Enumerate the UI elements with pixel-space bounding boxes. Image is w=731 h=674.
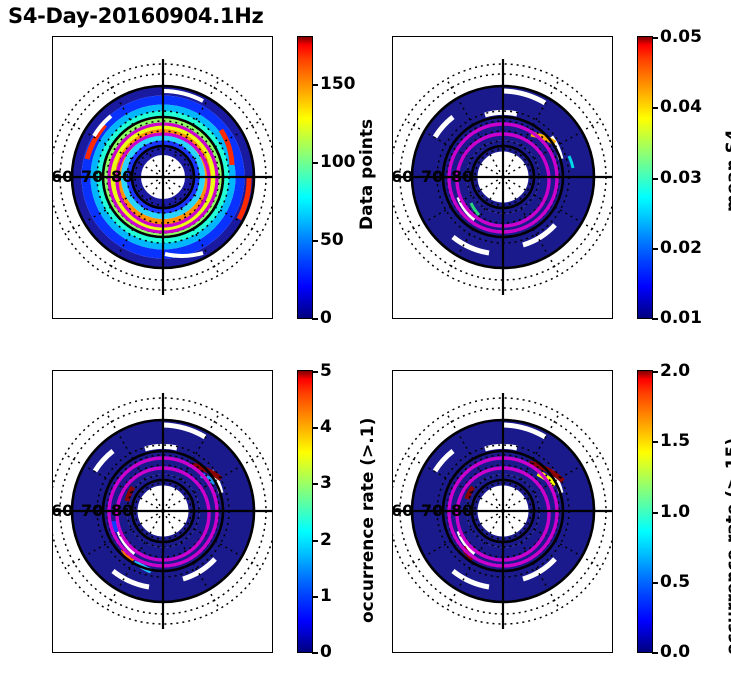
colorbar-tick [312, 540, 318, 542]
colorbar-tick-label: 0.02 [660, 238, 702, 258]
lat-label-80: 80 [111, 501, 133, 520]
colorbar-tick-label: 2.0 [660, 361, 690, 381]
colorbar-tick-label: 1.5 [660, 431, 690, 451]
colorbar-tick-label: 3 [320, 473, 332, 493]
colorbar-tick [652, 441, 658, 443]
figure-canvas: S4-Day-20160904.1Hz [0, 0, 731, 674]
figure-title: S4-Day-20160904.1Hz [8, 4, 263, 28]
colorbar-tick-label: 100 [320, 152, 356, 172]
colorbar-tick [312, 652, 318, 654]
polar-panel-occurrence-rate-015[interactable]: 60 70 80 [392, 370, 613, 653]
colorbar-tick [312, 162, 318, 164]
colorbar-tick-label: 1.0 [660, 502, 690, 522]
colorbar-tick-label: 0.5 [660, 572, 690, 592]
colorbar-tick [652, 37, 658, 39]
colorbar-tick-label: 0.03 [660, 168, 702, 188]
polar-plot-area: 60 70 80 [53, 371, 272, 652]
colorbar-tick-label: 0.0 [660, 642, 690, 662]
colorbar-tick-label: 0.01 [660, 308, 702, 328]
colorbar-tick [312, 318, 318, 320]
colorbar-tick-label: 4 [320, 417, 332, 437]
polar-panel-occurrence-rate-01[interactable]: 60 70 80 [52, 370, 273, 653]
colorbar-mean-s4[interactable]: 0.01 0.02 0.03 0.04 0.05 [637, 36, 653, 319]
colorbar-tick-label: 50 [320, 230, 344, 250]
colorbar-tick [652, 107, 658, 109]
polar-plot-area: 60 70 80 [393, 37, 612, 318]
colorbar-tick [652, 582, 658, 584]
colorbar-title-occurrence-rate-01: occurrence rate (>.1) [358, 418, 378, 623]
polar-panel-data-points[interactable]: 60 70 80 [52, 36, 273, 319]
polar-panel-mean-s4[interactable]: 60 70 80 [392, 36, 613, 319]
colorbar-tick [652, 318, 658, 320]
colorbar-tick [312, 240, 318, 242]
colorbar-tick-label: 0.05 [660, 27, 702, 47]
colorbar-tick [312, 84, 318, 86]
colorbar-title-data-points: Data points [357, 119, 377, 230]
colorbar-tick [312, 483, 318, 485]
colorbar-tick-label: 0.04 [660, 97, 702, 117]
lat-label-80: 80 [451, 501, 473, 520]
colorbar-tick-label: 1 [320, 586, 332, 606]
colorbar-tick-label: 150 [320, 74, 356, 94]
lat-label-80: 80 [111, 167, 133, 186]
colorbar-occurrence-rate-015[interactable]: 0.0 0.5 1.0 1.5 2.0 [637, 370, 653, 653]
polar-plot-area: 60 70 80 [53, 37, 272, 318]
lat-label-60: 60 [393, 167, 413, 186]
lat-label-70: 70 [81, 167, 103, 186]
lat-label-60: 60 [53, 501, 73, 520]
lat-label-60: 60 [53, 167, 73, 186]
colorbar-tick [652, 652, 658, 654]
lat-label-60: 60 [393, 501, 413, 520]
colorbar-title-mean-s4: mean S4 [723, 129, 731, 212]
colorbar-tick-label: 5 [320, 361, 332, 381]
colorbar-title-occurrence-rate-015: occurrence rate (>.15) [723, 438, 731, 655]
lat-label-70: 70 [421, 501, 443, 520]
colorbar-tick [652, 512, 658, 514]
lat-label-80: 80 [451, 167, 473, 186]
colorbar-tick-label: 2 [320, 530, 332, 550]
colorbar-tick-label: 0 [320, 308, 332, 328]
colorbar-tick [312, 596, 318, 598]
polar-plot-area: 60 70 80 [393, 371, 612, 652]
colorbar-tick [312, 371, 318, 373]
colorbar-tick-label: 0 [320, 642, 332, 662]
colorbar-tick [652, 248, 658, 250]
colorbar-data-points[interactable]: 0 50 100 150 [297, 36, 313, 319]
colorbar-tick [652, 371, 658, 373]
colorbar-tick [652, 178, 658, 180]
lat-label-70: 70 [421, 167, 443, 186]
lat-label-70: 70 [81, 501, 103, 520]
colorbar-tick [312, 427, 318, 429]
colorbar-occurrence-rate-01[interactable]: 0 1 2 3 4 5 [297, 370, 313, 653]
